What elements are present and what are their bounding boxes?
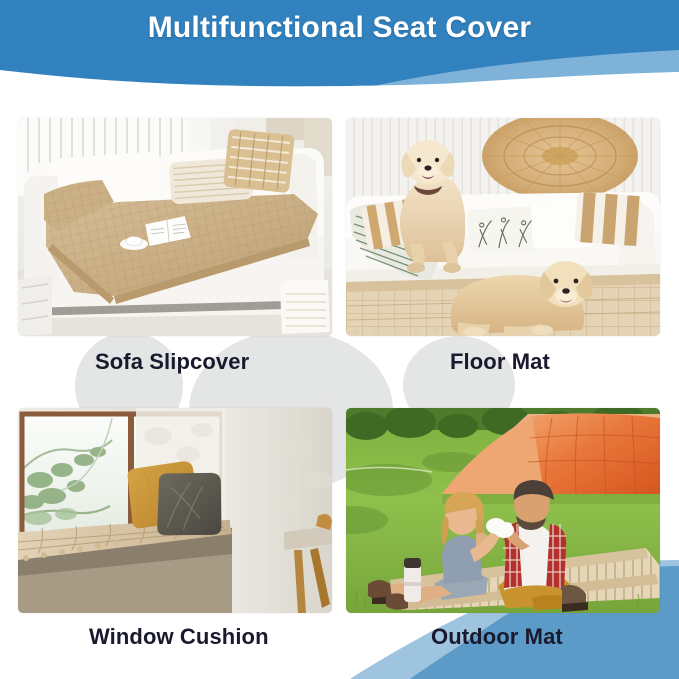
photo-floor-mat [346, 118, 660, 336]
photo-window-cushion [18, 408, 332, 613]
caption-floor-mat: Floor Mat [450, 349, 550, 375]
caption-window-cushion: Window Cushion [89, 624, 269, 650]
photo-card-outdoor-mat[interactable] [346, 408, 660, 613]
header-banner: Multifunctional Seat Cover [0, 0, 679, 104]
caption-outdoor-mat: Outdoor Mat [431, 624, 563, 650]
infographic-canvas: Multifunctional Seat Cover [0, 0, 679, 679]
caption-sofa-slipcover: Sofa Slipcover [95, 349, 249, 375]
photo-card-window-cushion[interactable] [18, 408, 332, 613]
photo-card-floor-mat[interactable] [346, 118, 660, 336]
photo-sofa-slipcover [18, 118, 332, 336]
page-title: Multifunctional Seat Cover [0, 11, 679, 45]
photo-card-sofa-slipcover[interactable] [18, 118, 332, 336]
photo-outdoor-mat [346, 408, 660, 613]
